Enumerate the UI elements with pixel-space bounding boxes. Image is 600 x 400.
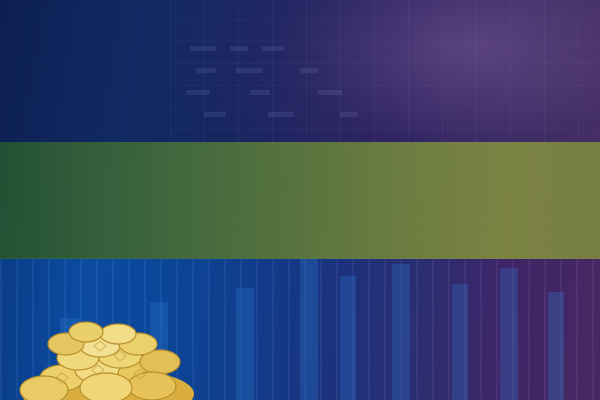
bottom-chart-panel bbox=[0, 258, 600, 400]
banner-image bbox=[0, 0, 600, 400]
bottom-chart-svg bbox=[0, 258, 600, 400]
title-text-block bbox=[0, 142, 600, 259]
